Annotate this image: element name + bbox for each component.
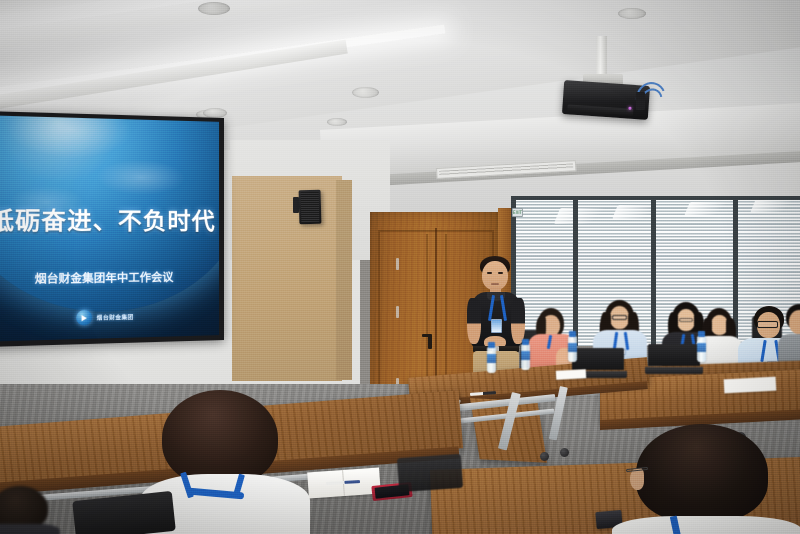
speaker-grille-icon	[301, 192, 320, 222]
laptop-keyboard[interactable]	[645, 367, 703, 374]
eye	[487, 272, 492, 274]
water-bottle[interactable]	[487, 347, 496, 373]
torso	[0, 524, 60, 534]
projector-lens-icon	[567, 104, 633, 115]
table-caster	[560, 448, 569, 457]
laptop[interactable]	[648, 344, 700, 374]
exit-sign: EXIT	[512, 208, 523, 217]
projector-mount-pole	[596, 36, 607, 79]
arm-left	[467, 298, 481, 344]
paper-documents[interactable]	[556, 369, 586, 380]
ceiling-speaker-icon	[618, 8, 646, 19]
ceiling-speaker-icon	[327, 118, 347, 126]
door-panel-line	[426, 234, 428, 391]
water-bottle[interactable]	[568, 336, 577, 362]
bottle-cap	[569, 331, 576, 336]
projection-screen: 砥砺奋进、不负时代 烟台财金集团年中工作会议 烟台财金集团	[0, 111, 224, 347]
water-bottle[interactable]	[521, 344, 530, 370]
door-hinge-icon	[396, 258, 399, 270]
torso	[612, 516, 800, 534]
bottle-label	[487, 354, 496, 363]
bottle-label	[697, 343, 706, 352]
glass-reflection	[684, 202, 734, 216]
water-bottle[interactable]	[697, 336, 706, 362]
eyeglasses-icon	[757, 321, 778, 328]
eye	[498, 272, 503, 274]
arm-right	[511, 298, 525, 344]
wall-wood-panel	[232, 176, 342, 381]
laptop-screen	[572, 348, 624, 370]
ceiling-speaker-icon	[352, 87, 379, 98]
glass-reflection	[554, 208, 612, 224]
window-mullion	[651, 196, 656, 346]
bottle-cap	[488, 342, 495, 347]
slide-logo: 烟台财金集团	[0, 307, 219, 328]
hair	[162, 390, 278, 486]
bottle-label	[568, 343, 577, 352]
conference-room-photo: 砥砺奋进、不负时代 烟台财金集团年中工作会议 烟台财金集团	[0, 0, 800, 534]
projection-screen-surface: 砥砺奋进、不负时代 烟台财金集团年中工作会议 烟台财金集团	[0, 115, 219, 341]
door-handle[interactable]	[422, 334, 431, 337]
head	[789, 310, 800, 334]
foreground-attendee-right	[612, 424, 800, 534]
bottle-cap	[522, 339, 529, 344]
head	[482, 261, 508, 290]
wall-mounted-speaker	[299, 190, 322, 225]
table-caster	[540, 452, 549, 461]
ceiling-speaker-icon	[198, 2, 230, 15]
paper-documents[interactable]	[724, 377, 777, 394]
bottle-cap	[698, 331, 705, 336]
eyeglasses-icon	[679, 318, 693, 322]
chair[interactable]	[397, 454, 463, 492]
wall-wood-panel-edge	[336, 180, 352, 380]
eyeglasses-icon	[612, 315, 627, 320]
foreground-attendee-left	[0, 486, 60, 534]
slide-subtitle: 烟台财金集团年中工作会议	[0, 268, 219, 287]
window-head-rail	[511, 196, 800, 200]
hair	[636, 424, 768, 522]
slide-title: 砥砺奋进、不负时代	[0, 200, 219, 236]
company-logo-icon	[77, 310, 93, 326]
laptop-screen	[648, 344, 700, 366]
door-hinge-icon	[396, 306, 399, 318]
door-center-seam	[435, 228, 437, 397]
company-logo-text: 烟台财金集团	[97, 312, 134, 321]
mouth	[491, 283, 499, 285]
bottle-label	[521, 351, 530, 360]
glass-reflection	[612, 205, 664, 219]
glass-reflection	[750, 199, 800, 213]
door-panel-line	[445, 234, 447, 391]
id-badge	[491, 319, 502, 333]
projector-connectors	[636, 92, 645, 110]
